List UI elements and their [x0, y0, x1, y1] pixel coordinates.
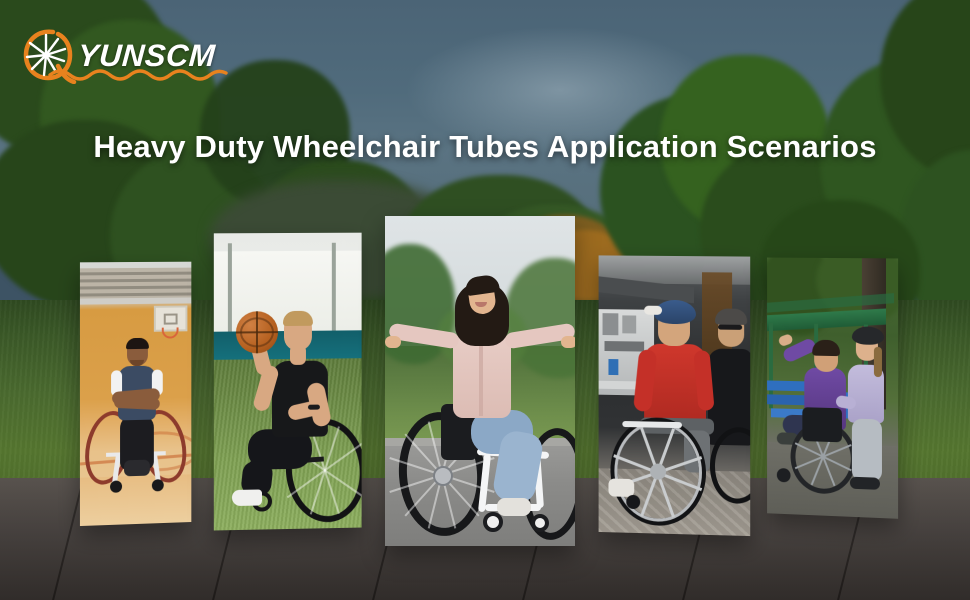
brand-logo: YUNSCM — [20, 24, 230, 86]
page-title: Heavy Duty Wheelchair Tubes Application … — [0, 128, 970, 165]
orange-wave-underline-icon — [48, 66, 228, 84]
photo-park-freedom — [385, 216, 575, 546]
photo-basketball-court — [80, 262, 191, 526]
photo-workshop — [599, 255, 751, 536]
list-item — [80, 262, 191, 526]
list-item — [599, 255, 751, 536]
photo-park-companion — [767, 258, 898, 519]
list-item — [767, 258, 898, 519]
list-item — [214, 233, 362, 531]
list-item — [385, 216, 575, 546]
photo-outdoor-basketball — [214, 233, 362, 531]
promo-banner: YUNSCM Heavy Duty Wheelchair Tubes Appli… — [0, 0, 970, 600]
